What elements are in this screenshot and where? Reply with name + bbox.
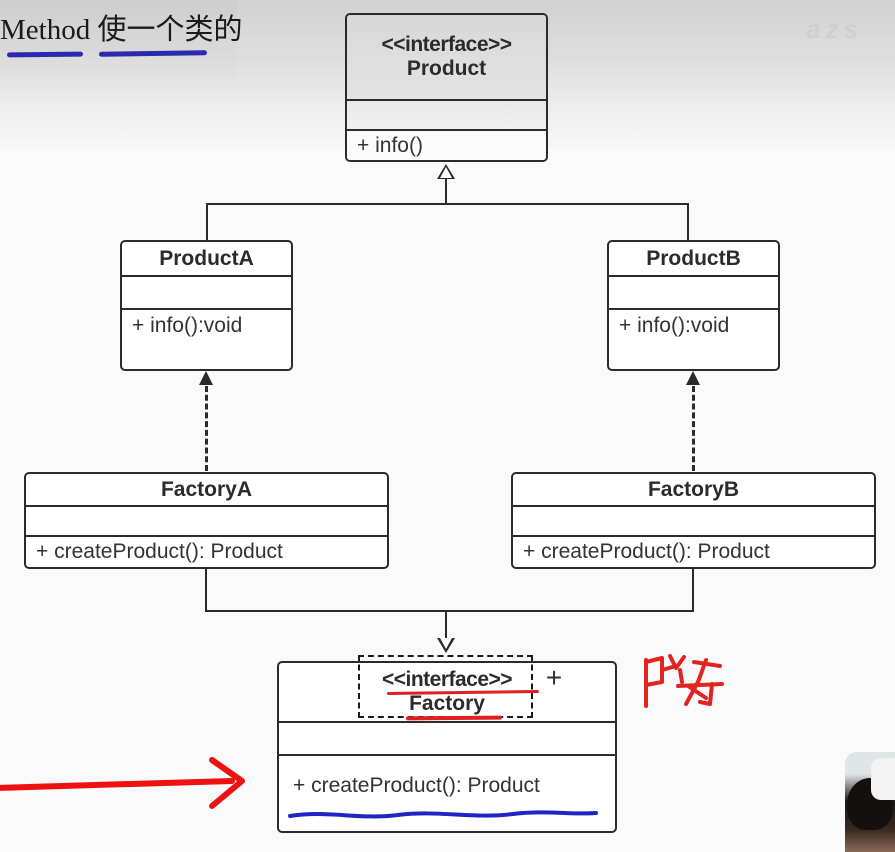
producta-header: ProductA xyxy=(122,242,291,277)
product-name: Product xyxy=(407,57,486,81)
product-operations: + info() xyxy=(347,131,546,160)
productb-name: ProductB xyxy=(646,247,741,271)
ink-underline-blue-1 xyxy=(7,52,83,58)
webcam-overlay[interactable] xyxy=(845,752,895,852)
uml-class-productb[interactable]: ProductB + info():void xyxy=(607,240,780,371)
generalization-riser-factorya xyxy=(205,569,207,612)
uml-class-producta[interactable]: ProductA + info():void xyxy=(120,240,293,371)
generalization-drop-productB xyxy=(687,203,689,241)
uml-class-product[interactable]: <<interface>> Product + info() xyxy=(345,13,548,162)
factorya-header: FactoryA xyxy=(26,474,387,507)
dependency-line-productb xyxy=(692,386,695,471)
dependency-arrowhead-producta xyxy=(199,371,213,385)
factoryb-attributes xyxy=(513,507,874,537)
factoryb-header: FactoryB xyxy=(513,474,874,507)
ink-underline-red-2 xyxy=(406,716,502,721)
uml-class-factoryb[interactable]: FactoryB + createProduct(): Product xyxy=(511,472,876,569)
product-stereotype: <<interface>> xyxy=(381,33,511,57)
generalization-bus-products xyxy=(206,203,688,205)
ink-handwritten-note-red xyxy=(636,652,728,714)
factoryb-operations: + createProduct(): Product xyxy=(513,537,874,567)
generalization-stem-factory xyxy=(445,610,447,638)
product-attributes xyxy=(347,101,546,131)
ink-underline-blue-2 xyxy=(99,50,207,57)
producta-name: ProductA xyxy=(159,247,254,271)
productb-operations: + info():void xyxy=(609,310,778,369)
ink-squiggle-blue xyxy=(288,806,598,824)
watermark: a z s xyxy=(806,14,890,54)
plus-cursor-icon: + xyxy=(543,668,565,690)
generalization-stem-product xyxy=(445,179,447,205)
selection-rectangle[interactable] xyxy=(358,655,533,718)
diagram-canvas: a z s Method 使一个类的 <<interface>> Product… xyxy=(0,0,895,852)
producta-attributes xyxy=(122,277,291,310)
producta-operations: + info():void xyxy=(122,310,291,369)
dependency-arrowhead-productb xyxy=(686,371,700,385)
generalization-riser-factoryb xyxy=(692,569,694,612)
factorya-attributes xyxy=(26,507,387,537)
uml-class-factorya[interactable]: FactoryA + createProduct(): Product xyxy=(24,472,389,569)
factory-attributes xyxy=(279,723,615,756)
productb-attributes xyxy=(609,277,778,310)
factorya-name: FactoryA xyxy=(161,478,252,502)
generalization-arrowhead-product xyxy=(437,164,455,179)
generalization-bus-factories xyxy=(205,610,694,612)
slide-heading: Method 使一个类的 xyxy=(0,6,242,48)
productb-header: ProductB xyxy=(609,242,778,277)
dependency-line-producta xyxy=(205,386,208,471)
product-header: <<interface>> Product xyxy=(347,15,546,101)
red-pointer-arrow xyxy=(0,748,256,818)
generalization-arrowhead-factory xyxy=(437,638,455,653)
factoryb-name: FactoryB xyxy=(648,478,739,502)
factorya-operations: + createProduct(): Product xyxy=(26,537,387,567)
webcam-corner-mask xyxy=(871,758,895,800)
generalization-drop-productA xyxy=(206,203,208,241)
